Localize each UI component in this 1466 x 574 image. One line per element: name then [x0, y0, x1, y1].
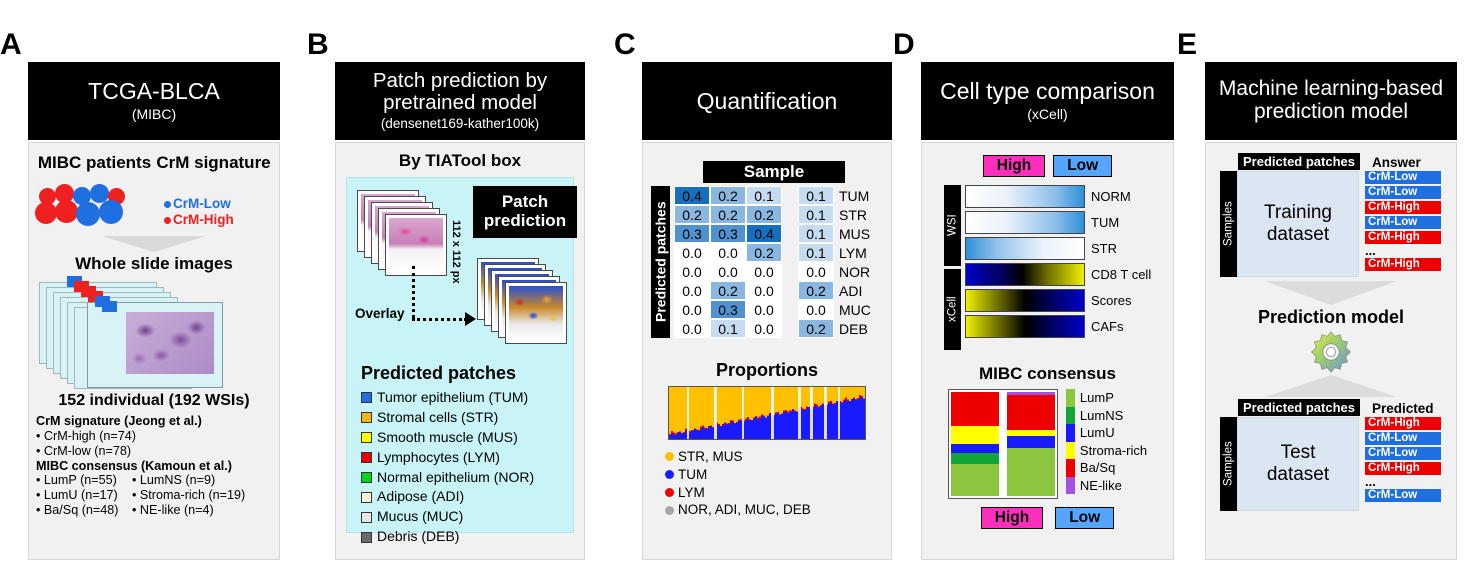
- proportions-chart: [668, 386, 866, 440]
- mibc-stack-segment: [951, 392, 999, 426]
- proportion-gap: [810, 387, 813, 439]
- mibc-stat-item: • LumP (n=55): [36, 473, 132, 488]
- panel-e: E Machine learning-based prediction mode…: [1177, 30, 1466, 560]
- panel-e-title: Machine learning-based prediction model: [1219, 78, 1443, 123]
- proportions-legend-dot-icon: [665, 488, 674, 497]
- test-dataset-box: Test dataset: [1237, 417, 1359, 511]
- panel-d-body: High Low WSIxCell NORMTUMSTRCD8 T cellSc…: [921, 142, 1174, 560]
- group-badges-top: High Low: [922, 143, 1173, 177]
- mibc-legend-label: NE-like: [1080, 477, 1147, 495]
- mibc-legend-label: Ba/Sq: [1080, 459, 1147, 477]
- heatmap-cell-last: 0.1: [798, 243, 834, 262]
- proportion-gap: [824, 387, 827, 439]
- gear-icon: [1308, 329, 1354, 375]
- slide-label-flag-icon: [102, 301, 117, 312]
- heatmap-row-label: LYM: [839, 243, 871, 262]
- sample-class-label: CrM-Low: [1365, 489, 1441, 502]
- heatmap-cell-last: 0.0: [798, 300, 834, 319]
- mibc-legend-swatch-icon: [1066, 459, 1075, 477]
- heatmap-cell: 0.3: [710, 224, 746, 243]
- badge-low-bottom: Low: [1055, 507, 1114, 529]
- patch-class-label: Stromal cells (STR): [377, 408, 498, 428]
- heatmap-cell-last: 0.2: [798, 319, 834, 338]
- mibc-legend-label: LumU: [1080, 424, 1147, 442]
- patient-figure-icon: [99, 200, 123, 225]
- mibc-stat-item: • NE-like (n=4): [132, 503, 214, 518]
- crm-signature-column: CrM signature CrM-LowCrM-High: [154, 153, 273, 234]
- gradient-bars: NORMTUMSTRCD8 T cellScoresCAFs: [965, 185, 1151, 350]
- heatmap-row-label: NOR: [839, 262, 871, 281]
- panel-a-letter: A: [0, 30, 22, 60]
- proportions-legend-item: NOR, ADI, MUC, DEB: [665, 501, 891, 519]
- mibc-stat-row: • Ba/Sq (n=48)• NE-like (n=4): [36, 503, 273, 518]
- gradient-bar-label: TUM: [1091, 215, 1119, 230]
- proportions-legend-dot-icon: [665, 506, 674, 515]
- panel-d: D Cell type comparison (xCell) High Low …: [893, 30, 1183, 560]
- gradient-bar: [965, 315, 1085, 338]
- training-predicted-patches-label: Predicted patches: [1238, 153, 1360, 170]
- patch-class-legend-item: Tumor epithelium (TUM): [361, 388, 534, 408]
- predicted-patches-legend-title: Predicted patches: [361, 363, 516, 384]
- proportions-legend-item: LYM: [665, 484, 891, 502]
- heatmap-row-label: STR: [839, 205, 871, 224]
- overlay-connector-horizontal: [412, 318, 467, 321]
- panel-d-subtitle: (xCell): [1027, 106, 1067, 123]
- crm-stat-item: • CrM-low (n=78): [36, 444, 273, 459]
- prediction-model-title: Prediction model: [1206, 307, 1456, 328]
- heatmap-row-label: MUC: [839, 300, 871, 319]
- patch-size-label: 112 x 112 px: [450, 220, 462, 284]
- patch-class-label: Debris (DEB): [377, 527, 459, 547]
- test-header-row: Predicted patches Predicted: [1206, 399, 1456, 416]
- mibc-stack-segment: [951, 464, 999, 496]
- patch-class-label: Lymphocytes (LYM): [377, 448, 500, 468]
- panel-b-header: Patch prediction by pretrained model (de…: [335, 62, 585, 140]
- mibc-patients-column: MIBC patients: [35, 153, 154, 234]
- heatmap-cell: 0.3: [674, 224, 710, 243]
- panel-b-subtitle: (densenet169-kather100k): [381, 116, 539, 132]
- heatmap-row-label: MUS: [839, 224, 871, 243]
- heatmap-cell: 0.0: [674, 300, 710, 319]
- heatmap-cell: 0.1: [746, 186, 782, 205]
- crm-signature-heading: CrM signature (Jeong et al.): [36, 414, 273, 429]
- figure-root: A TCGA-BLCA (MIBC) MIBC patients CrM sig…: [0, 0, 1466, 574]
- group-label-xcell: xCell: [944, 269, 961, 350]
- gradient-bar-label: CAFs: [1091, 319, 1124, 334]
- panel-b-body: By TIATool box 112 x 112 px Patch predic…: [335, 142, 585, 560]
- patch-class-legend-item: Normal epithelium (NOR): [361, 468, 534, 488]
- panel-b-letter: B: [307, 30, 329, 60]
- mibc-legend-label: Stroma-rich: [1080, 442, 1147, 460]
- predicted-patches-axis-label: Predicted patches: [651, 186, 670, 338]
- sample-class-label: CrM-High: [1365, 417, 1441, 430]
- slide-stack-icon: [29, 276, 279, 392]
- predicted-column-title: Predicted: [1372, 401, 1434, 416]
- heatmap-cell: 0.0: [674, 319, 710, 338]
- sample-class-label: CrM-Low: [1365, 216, 1441, 229]
- proportion-gap: [687, 387, 690, 439]
- test-data-row: Samples Test dataset CrM-HighCrM-LowCrM-…: [1206, 417, 1456, 511]
- heatmap-cell: 0.0: [746, 262, 782, 281]
- mibc-legend-colorstrip: [1066, 389, 1075, 499]
- patch-class-label: Adipose (ADI): [377, 487, 464, 507]
- panel-e-letter: E: [1177, 30, 1197, 60]
- proportions-legend-item: STR, MUS: [665, 448, 891, 466]
- gradient-bar: [965, 185, 1085, 208]
- heatmap-cell: 0.0: [746, 300, 782, 319]
- patch-class-swatch-icon: [361, 512, 372, 523]
- sample-class-label: CrM-High: [1365, 462, 1441, 475]
- heatmap-cell: 0.0: [674, 243, 710, 262]
- sample-class-label: CrM-High: [1365, 231, 1441, 244]
- cohort-statistics: CrM signature (Jeong et al.)• CrM-high (…: [29, 410, 279, 518]
- gradient-bar: [965, 237, 1085, 260]
- row-group-labels: WSIxCell: [944, 185, 961, 350]
- label-ellipsis: ...: [1365, 477, 1441, 487]
- mibc-stack-segment: [1007, 448, 1055, 496]
- patch-class-swatch-icon: [361, 392, 372, 403]
- heatmap-cell: 0.0: [674, 281, 710, 300]
- panel-d-letter: D: [893, 30, 915, 60]
- mibc-legend-swatch-icon: [1066, 389, 1075, 407]
- gradient-bar-row: Scores: [965, 289, 1151, 312]
- mibc-stat-item: • Stroma-rich (n=19): [132, 488, 245, 503]
- gradient-bar-row: STR: [965, 237, 1151, 260]
- heatmap-cell: 0.2: [746, 243, 782, 262]
- mibc-stacked-bar: [951, 392, 999, 496]
- proportions-title: Proportions: [643, 360, 891, 381]
- predicted-patches-legend: Tumor epithelium (TUM)Stromal cells (STR…: [361, 388, 534, 547]
- overlay-arrow-icon: [465, 312, 476, 326]
- model-to-test-arrow-icon: [1265, 375, 1397, 397]
- training-to-model-arrow-icon: [1265, 281, 1397, 305]
- patch-class-swatch-icon: [361, 492, 372, 503]
- gradient-bar-label: NORM: [1091, 189, 1131, 204]
- gradient-bar-row: TUM: [965, 211, 1151, 234]
- mibc-legend-swatch-icon: [1066, 424, 1075, 442]
- proportions-legend: STR, MUSTUMLYMNOR, ADI, MUC, DEB: [665, 448, 891, 519]
- mibc-stacked-bars: [948, 389, 1058, 499]
- heatmap-main-grid: 0.40.20.10.20.20.20.30.30.40.00.00.20.00…: [674, 186, 782, 338]
- legend-dot-icon: [164, 217, 171, 224]
- patch-class-label: Smooth muscle (MUS): [377, 428, 518, 448]
- crm-legend-item: CrM-Low: [164, 196, 273, 212]
- panel-a-subtitle: (MIBC): [132, 106, 176, 123]
- panel-c-body: Sample Predicted patches 0.40.20.10.20.2…: [642, 142, 892, 560]
- crm-signature-legend: CrM-LowCrM-High: [154, 196, 273, 228]
- cell-type-heatmap: WSIxCell NORMTUMSTRCD8 T cellScoresCAFs: [922, 185, 1173, 350]
- overlay-label: Overlay: [355, 306, 405, 321]
- mibc-consensus-chart: LumPLumNSLumUStroma-richBa/SqNE-like: [922, 389, 1173, 499]
- heatmap-cell: 0.0: [710, 243, 746, 262]
- panel-a-body: MIBC patients CrM signature CrM-LowCrM-H…: [28, 142, 280, 560]
- patch-class-legend-item: Lymphocytes (LYM): [361, 448, 534, 468]
- gradient-bar-row: NORM: [965, 185, 1151, 208]
- heatmap-row-labels: TUMSTRMUSLYMNORADIMUCDEB: [839, 186, 871, 338]
- heatmap-cell: 0.2: [710, 205, 746, 224]
- proportions-legend-label: NOR, ADI, MUC, DEB: [678, 501, 811, 519]
- patch-prediction-box: Patch prediction: [473, 186, 577, 238]
- patch-class-label: Tumor epithelium (TUM): [377, 388, 528, 408]
- test-samples-axis: Samples: [1220, 417, 1237, 511]
- proportion-gap: [798, 387, 801, 439]
- quantification-heatmap: Predicted patches 0.40.20.10.20.20.20.30…: [643, 186, 891, 338]
- mibc-legend-swatch-icon: [1066, 442, 1075, 460]
- heatmap-cell-last: 0.1: [798, 224, 834, 243]
- panel-a-title: TCGA-BLCA: [88, 79, 220, 104]
- gradient-bar-row: CD8 T cell: [965, 263, 1151, 286]
- panel-e-body: Predicted patches Answer Samples Trainin…: [1205, 142, 1457, 560]
- patch-class-swatch-icon: [361, 452, 372, 463]
- crm-legend-item: CrM-High: [164, 212, 273, 228]
- legend-dot-icon: [164, 201, 171, 208]
- heatmap-cell: 0.3: [710, 300, 746, 319]
- mibc-stat-item: • LumU (n=17): [36, 488, 132, 503]
- proportions-legend-dot-icon: [665, 452, 674, 461]
- individual-count: 152 individual (192 WSIs): [29, 392, 279, 410]
- mibc-legend-swatch-icon: [1066, 477, 1075, 495]
- test-block: Predicted patches Predicted Samples Test…: [1206, 399, 1456, 511]
- proportions-legend-label: TUM: [678, 466, 707, 484]
- group-label-wsi: WSI: [944, 185, 961, 266]
- panel-c-header: Quantification: [642, 62, 892, 140]
- whole-slide-images-title: Whole slide images: [29, 254, 279, 274]
- heatmap-cell: 0.4: [746, 224, 782, 243]
- heatmap-cell-last: 0.2: [798, 281, 834, 300]
- wsi-slide-main-icon: [87, 302, 223, 388]
- patch-class-swatch-icon: [361, 472, 372, 483]
- mibc-legend-label: LumNS: [1080, 407, 1147, 425]
- panel-d-title: Cell type comparison: [940, 79, 1155, 104]
- heatmap-row-label: ADI: [839, 281, 871, 300]
- proportions-legend-label: STR, MUS: [678, 448, 743, 466]
- answer-column-title: Answer: [1372, 155, 1421, 170]
- heatmap-last-column: 0.10.10.10.10.00.20.00.2: [798, 186, 834, 338]
- gradient-bar: [965, 263, 1085, 286]
- panel-a-header: TCGA-BLCA (MIBC): [28, 62, 280, 140]
- panel-e-header: Machine learning-based prediction model: [1205, 62, 1457, 140]
- panel-c-title: Quantification: [697, 89, 838, 114]
- mibc-legend-swatch-icon: [1066, 407, 1075, 425]
- gradient-bar-label: Scores: [1091, 293, 1131, 308]
- group-badges-bottom: High Low: [922, 507, 1173, 529]
- patch-class-legend-item: Smooth muscle (MUS): [361, 428, 534, 448]
- prediction-model-gear: [1206, 329, 1456, 375]
- proportion-gap: [714, 387, 717, 439]
- heatmap-cell: 0.1: [710, 319, 746, 338]
- mibc-consensus-heading: MIBC consensus (Kamoun et al.): [36, 459, 273, 474]
- badge-high-top: High: [983, 155, 1045, 177]
- proportion-bar: [863, 387, 866, 439]
- mibc-stack-segment: [951, 426, 999, 444]
- sample-class-label: CrM-High: [1365, 201, 1441, 214]
- patch-class-label: Normal epithelium (NOR): [377, 468, 534, 488]
- training-answer-labels: CrM-LowCrM-LowCrM-HighCrM-LowCrM-High...…: [1365, 171, 1441, 277]
- panel-b-title: Patch prediction by pretrained model: [373, 70, 547, 114]
- heatmap-cell: 0.4: [674, 186, 710, 205]
- mibc-stack-segment: [1007, 436, 1055, 448]
- mibc-stacked-bar: [1007, 392, 1055, 496]
- heatmap-row-label: DEB: [839, 319, 871, 338]
- proportion-gap: [771, 387, 774, 439]
- heatmap-cell: 0.2: [746, 205, 782, 224]
- panel-b: B Patch prediction by pretrained model (…: [307, 30, 607, 560]
- training-dataset-box: Training dataset: [1237, 171, 1359, 277]
- mibc-stat-item: • Ba/Sq (n=48): [36, 503, 132, 518]
- training-header-row: Predicted patches Answer: [1206, 153, 1456, 170]
- patient-figure-icon: [35, 202, 57, 225]
- sample-axis-label: Sample: [703, 161, 845, 183]
- heatmap-cell: 0.2: [674, 205, 710, 224]
- mibc-legend-label: LumP: [1080, 389, 1147, 407]
- training-block: Predicted patches Answer Samples Trainin…: [1206, 143, 1456, 277]
- mibc-legend: LumPLumNSLumUStroma-richBa/SqNE-like: [1066, 389, 1147, 499]
- patients-group-icon: [35, 178, 154, 234]
- sample-class-label: CrM-Low: [1365, 432, 1441, 445]
- heatmap-cell-last: 0.1: [798, 186, 834, 205]
- heatmap-cell-last: 0.1: [798, 205, 834, 224]
- sample-class-label: CrM-Low: [1365, 447, 1441, 460]
- patch-class-swatch-icon: [361, 412, 372, 423]
- mibc-stat-row: • LumP (n=55)• LumNS (n=9): [36, 473, 273, 488]
- gradient-bar-row: CAFs: [965, 315, 1151, 338]
- mibc-stat-item: • LumNS (n=9): [132, 473, 215, 488]
- mibc-stack-segment: [951, 453, 999, 463]
- panel-a: A TCGA-BLCA (MIBC) MIBC patients CrM sig…: [0, 30, 300, 560]
- gradient-bar: [965, 289, 1085, 312]
- flow-arrow-down-icon: [102, 236, 206, 252]
- gradient-bar-label: STR: [1091, 241, 1117, 256]
- mibc-patients-title: MIBC patients: [35, 153, 154, 172]
- panel-b-diagram: 112 x 112 px Patch prediction Overlay Pr…: [346, 177, 574, 533]
- mibc-stack-segment: [951, 444, 999, 453]
- legend-label: CrM-Low: [173, 196, 231, 211]
- mibc-consensus-title: MIBC consensus: [922, 364, 1173, 384]
- proportion-gap: [742, 387, 745, 439]
- badge-low-top: Low: [1053, 155, 1112, 177]
- patch-class-swatch-icon: [361, 432, 372, 443]
- badge-high-bottom: High: [981, 507, 1043, 529]
- tiatoolbox-subtitle: By TIATool box: [336, 143, 584, 177]
- gradient-bar-label: CD8 T cell: [1091, 267, 1151, 282]
- patch-class-label: Mucus (MUC): [377, 507, 463, 527]
- test-predicted-labels: CrM-HighCrM-LowCrM-LowCrM-High...CrM-Low: [1365, 417, 1441, 511]
- patient-figure-icon: [76, 202, 100, 227]
- training-data-row: Samples Training dataset CrM-LowCrM-LowC…: [1206, 171, 1456, 277]
- patch-class-swatch-icon: [361, 532, 372, 543]
- mibc-stat-row: • LumU (n=17)• Stroma-rich (n=19): [36, 488, 273, 503]
- histology-thumbnail: [126, 312, 214, 374]
- crm-signature-title: CrM signature: [154, 153, 273, 172]
- proportion-gap: [838, 387, 841, 439]
- test-predicted-patches-label: Predicted patches: [1238, 399, 1360, 416]
- patch-class-legend-item: Debris (DEB): [361, 527, 534, 547]
- legend-label: CrM-High: [173, 212, 234, 227]
- proportions-legend-item: TUM: [665, 466, 891, 484]
- gradient-bar: [965, 211, 1085, 234]
- heatmap-cell: 0.0: [710, 262, 746, 281]
- patient-figure-icon: [55, 200, 78, 224]
- panel-d-header: Cell type comparison (xCell): [921, 62, 1174, 140]
- heatmap-cell-last: 0.0: [798, 262, 834, 281]
- heatmap-cell: 0.0: [746, 281, 782, 300]
- heatmap-cell: 0.0: [746, 319, 782, 338]
- mibc-legend-labels: LumPLumNSLumUStroma-richBa/SqNE-like: [1080, 389, 1147, 499]
- sample-class-label: CrM-Low: [1365, 171, 1441, 184]
- panel-a-columns: MIBC patients CrM signature CrM-LowCrM-H…: [29, 143, 279, 234]
- patch-class-legend-item: Adipose (ADI): [361, 487, 534, 507]
- heatmap-cell: 0.0: [674, 262, 710, 281]
- mibc-stack-segment: [1007, 395, 1055, 430]
- patch-class-legend-item: Stromal cells (STR): [361, 408, 534, 428]
- crm-stat-item: • CrM-high (n=74): [36, 429, 273, 444]
- training-samples-axis: Samples: [1220, 171, 1237, 277]
- patch-class-legend-item: Mucus (MUC): [361, 507, 534, 527]
- panel-c: C Quantification Sample Predicted patche…: [614, 30, 899, 560]
- proportions-legend-dot-icon: [665, 470, 674, 479]
- sample-class-label: CrM-High: [1365, 258, 1441, 271]
- proportions-legend-label: LYM: [678, 484, 705, 502]
- overlay-connector-vertical: [412, 266, 415, 318]
- sample-class-label: CrM-Low: [1365, 186, 1441, 199]
- panel-c-letter: C: [614, 30, 636, 60]
- heatmap-row-label: TUM: [839, 186, 871, 205]
- label-ellipsis: ...: [1365, 246, 1441, 256]
- heatmap-cell: 0.2: [710, 281, 746, 300]
- heatmap-cell: 0.2: [710, 186, 746, 205]
